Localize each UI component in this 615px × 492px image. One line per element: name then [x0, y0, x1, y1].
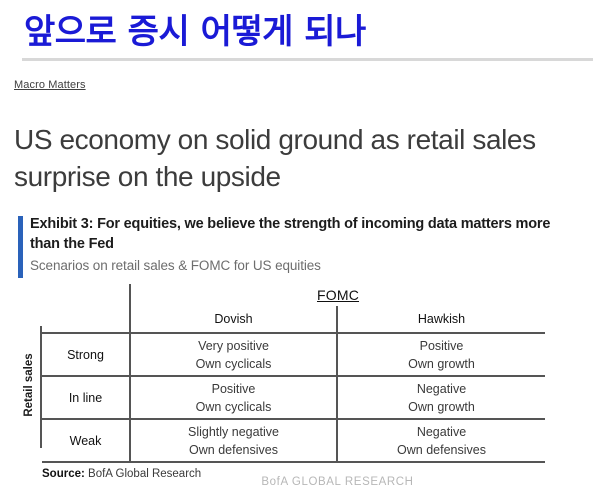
exhibit-accent-bar: [18, 216, 23, 278]
column-header-hawkish: Hawkish: [337, 306, 545, 333]
cell-in-line-hawkish: Negative Own growth: [337, 376, 545, 419]
column-header-dovish: Dovish: [130, 306, 337, 333]
kicker-link[interactable]: Macro Matters: [14, 79, 86, 91]
cell-line-1: Very positive: [131, 337, 336, 355]
cell-in-line-dovish: Positive Own cyclicals: [130, 376, 337, 419]
cell-line-2: Own defensives: [338, 441, 545, 459]
cell-strong-dovish: Very positive Own cyclicals: [130, 333, 337, 376]
exhibit-subtitle: Scenarios on retail sales & FOMC for US …: [30, 257, 615, 276]
cell-line-2: Own cyclicals: [131, 398, 336, 416]
table-row: In line Positive Own cyclicals Negative …: [42, 376, 545, 419]
korean-banner: 앞으로 증시 어떻게 되나: [0, 0, 615, 52]
cell-line-2: Own growth: [338, 355, 545, 373]
table-row: Strong Very positive Own cyclicals Posit…: [42, 333, 545, 376]
cell-line-2: Own defensives: [131, 441, 336, 459]
cell-line-1: Positive: [131, 380, 336, 398]
table-row: Weak Slightly negative Own defensives Ne…: [42, 419, 545, 462]
scenario-matrix: Retail sales FOMC Dovish Hawkish Strong …: [0, 284, 615, 474]
corner-cell-top: [42, 284, 130, 306]
column-header-row: Dovish Hawkish: [42, 306, 545, 333]
cell-line-1: Positive: [338, 337, 545, 355]
corner-cell-head: [42, 306, 130, 333]
cell-weak-dovish: Slightly negative Own defensives: [130, 419, 337, 462]
cell-line-2: Own growth: [338, 398, 545, 416]
column-group-header-row: FOMC: [42, 284, 545, 306]
cell-line-1: Negative: [338, 423, 545, 441]
exhibit-header: Exhibit 3: For equities, we believe the …: [0, 214, 615, 276]
exhibit-title: Exhibit 3: For equities, we believe the …: [30, 214, 558, 254]
cell-line-2: Own cyclicals: [131, 355, 336, 373]
column-group-header-label: FOMC: [130, 284, 545, 306]
row-label-weak: Weak: [42, 419, 130, 462]
row-group-header-label: Retail sales: [23, 353, 35, 417]
korean-title: 앞으로 증시 어떻게 되나: [24, 12, 615, 52]
cell-line-1: Slightly negative: [131, 423, 336, 441]
article-headline: US economy on solid ground as retail sal…: [14, 122, 601, 196]
row-group-header: Retail sales: [20, 326, 38, 448]
row-label-strong: Strong: [42, 333, 130, 376]
watermark: BofA GLOBAL RESEARCH: [0, 476, 615, 488]
matrix-table: FOMC Dovish Hawkish Strong Very positive…: [42, 284, 545, 463]
cell-weak-hawkish: Negative Own defensives: [337, 419, 545, 462]
row-label-in-line: In line: [42, 376, 130, 419]
kicker-row: Macro Matters: [0, 61, 615, 93]
headline-row: US economy on solid ground as retail sal…: [0, 93, 615, 196]
row-group-divider: [40, 326, 42, 448]
cell-line-1: Negative: [338, 380, 545, 398]
cell-strong-hawkish: Positive Own growth: [337, 333, 545, 376]
